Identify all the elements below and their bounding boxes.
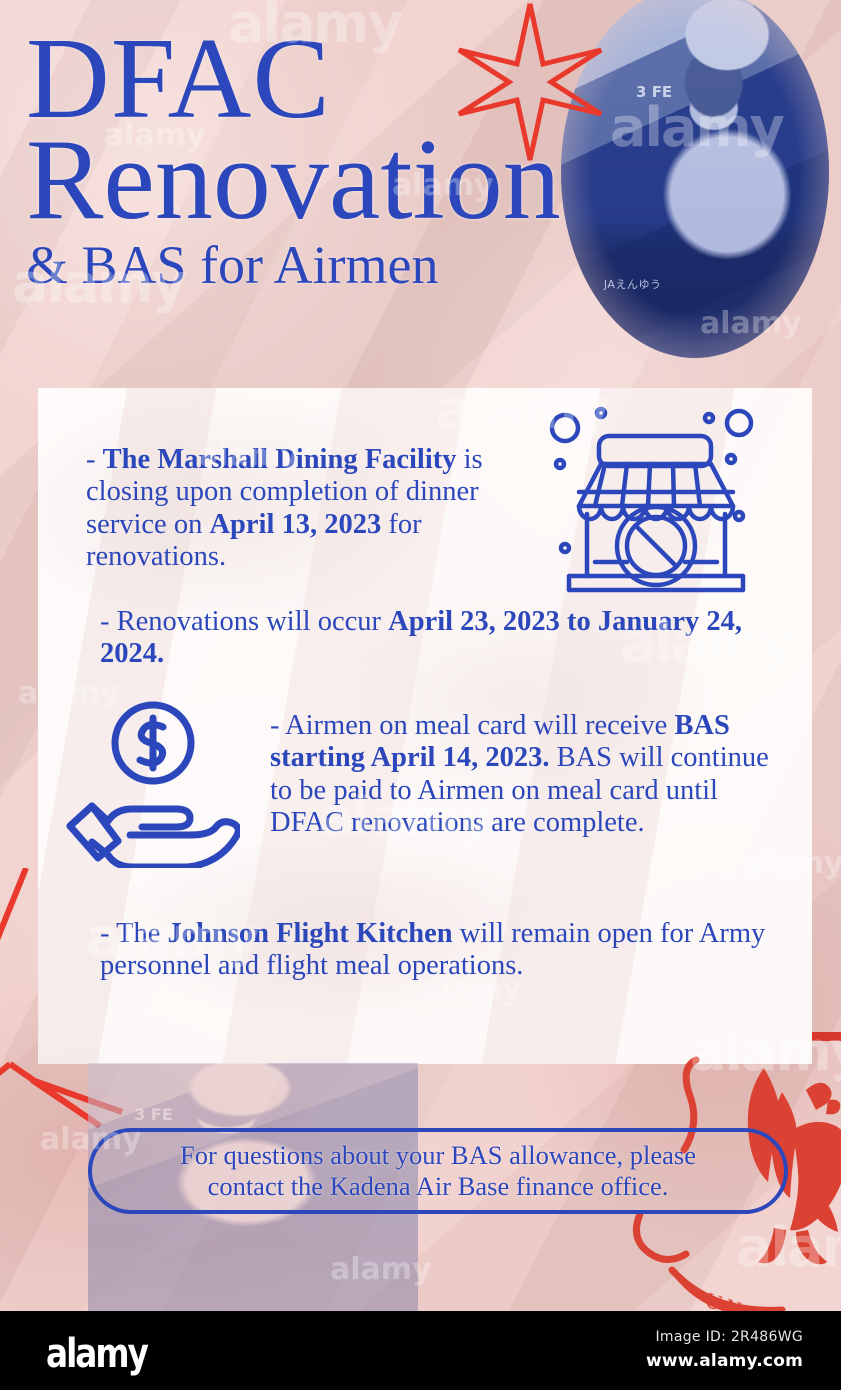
bas-contact-callout: For questions about your BAS allowance, …: [88, 1128, 788, 1214]
money-in-hand-icon: [60, 698, 240, 868]
bullet-dfac-closing: - The Marshall Dining Facility is closin…: [86, 444, 506, 574]
callout-text: For questions about your BAS allowance, …: [180, 1140, 696, 1201]
title-line-2: Renovation: [26, 127, 816, 234]
bullet-text: -: [86, 444, 103, 475]
bullet-emphasis: April 13, 2023: [209, 509, 381, 540]
callout-line-1: For questions about your BAS allowance, …: [180, 1140, 696, 1170]
bullet-text: - Renovations will occur: [100, 606, 388, 637]
storefront-closed-icon: [543, 396, 769, 596]
bullet-johnson-flight-kitchen: - The Johnson Flight Kitchen will remain…: [86, 918, 798, 983]
content-card: - The Marshall Dining Facility is closin…: [38, 388, 812, 1064]
bullet-text: - Airmen on meal card will receive: [270, 710, 674, 741]
screenshot-root: 3 FE JAえんゆう DFAC Renovation & BAS for Ai…: [0, 0, 841, 1390]
footer-url[interactable]: www.alamy.com: [646, 1351, 803, 1371]
bullet-renovation-dates: - Renovations will occur April 23, 2023 …: [86, 606, 804, 671]
footer-image-id: Image ID: 2R486WG: [646, 1329, 803, 1345]
callout-line-2: contact the Kadena Air Base finance offi…: [208, 1171, 669, 1201]
bottom-photo-sign-number: 3 FE: [134, 1105, 173, 1124]
bullet-text: - The: [100, 918, 168, 949]
bullet-bas-meal-card: - Airmen on meal card will receive BAS s…: [270, 710, 790, 840]
svg-text:UNC: UNC: [702, 1287, 765, 1311]
bullet-emphasis: The Marshall Dining Facility: [103, 444, 457, 475]
footer-meta: Image ID: 2R486WG www.alamy.com: [646, 1329, 803, 1371]
alamy-footer-bar: alamy Image ID: 2R486WG www.alamy.com: [0, 1311, 841, 1390]
poster-header: DFAC Renovation & BAS for Airmen: [26, 26, 816, 294]
bullet-emphasis: Johnson Flight Kitchen: [168, 918, 453, 949]
alamy-logo: alamy: [46, 1331, 147, 1377]
poster-subtitle: & BAS for Airmen: [26, 237, 816, 294]
poster-canvas: 3 FE JAえんゆう DFAC Renovation & BAS for Ai…: [0, 0, 841, 1311]
